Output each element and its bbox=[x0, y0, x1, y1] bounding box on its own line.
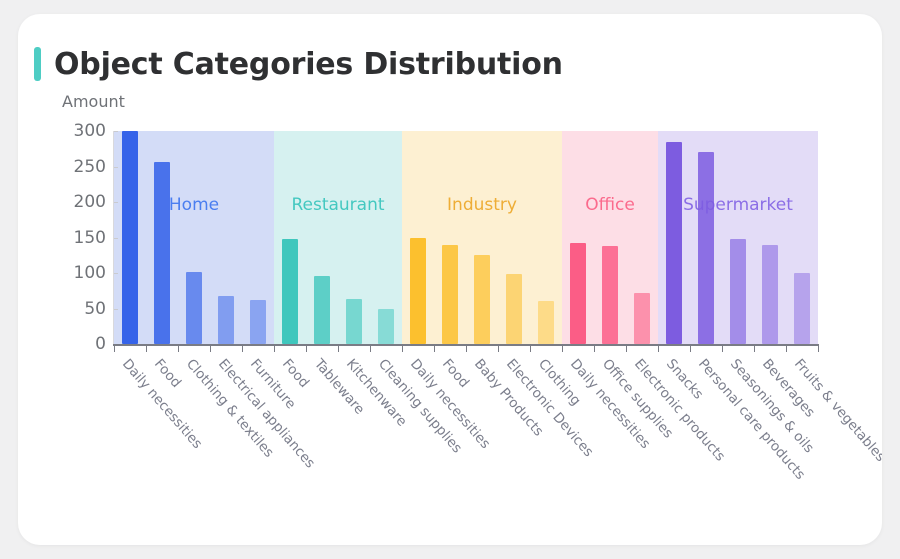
x-tick-mark bbox=[690, 346, 691, 352]
y-tick-mark bbox=[114, 131, 118, 132]
bar[interactable] bbox=[698, 152, 714, 344]
bar[interactable] bbox=[346, 299, 362, 344]
bar[interactable] bbox=[794, 273, 810, 344]
x-tick-mark bbox=[242, 346, 243, 352]
bar[interactable] bbox=[634, 293, 650, 344]
x-tick-mark bbox=[114, 346, 115, 352]
x-tick-mark bbox=[754, 346, 755, 352]
bar[interactable] bbox=[666, 142, 682, 344]
y-axis-title: Amount bbox=[62, 92, 125, 111]
x-tick-mark bbox=[146, 346, 147, 352]
bar[interactable] bbox=[282, 239, 298, 344]
bar[interactable] bbox=[474, 255, 490, 344]
x-tick-mark bbox=[370, 346, 371, 352]
group-label-home: Home bbox=[114, 195, 274, 215]
bar[interactable] bbox=[762, 245, 778, 344]
plot-area: HomeRestaurantIndustryOfficeSupermarket bbox=[114, 131, 818, 344]
x-tick-mark bbox=[786, 346, 787, 352]
bar[interactable] bbox=[154, 162, 170, 344]
group-label-industry: Industry bbox=[402, 195, 562, 215]
y-tick-label: 50 bbox=[60, 299, 106, 319]
y-tick-label: 300 bbox=[60, 121, 106, 141]
y-tick-label: 200 bbox=[60, 192, 106, 212]
bar[interactable] bbox=[538, 301, 554, 344]
chart-card: Object Categories Distribution Amount 05… bbox=[18, 14, 882, 545]
bar[interactable] bbox=[186, 272, 202, 344]
x-tick-mark bbox=[658, 346, 659, 352]
y-axis-tick-labels: 050100150200250300 bbox=[56, 131, 106, 344]
bar[interactable] bbox=[730, 239, 746, 344]
x-tick-mark bbox=[210, 346, 211, 352]
x-tick-mark bbox=[562, 346, 563, 352]
group-label-supermarket: Supermarket bbox=[658, 195, 818, 215]
x-tick-mark bbox=[274, 346, 275, 352]
x-tick-mark bbox=[434, 346, 435, 352]
y-tick-mark bbox=[114, 202, 118, 203]
y-tick-mark bbox=[114, 273, 118, 274]
x-tick-mark bbox=[594, 346, 595, 352]
x-tick-mark bbox=[306, 346, 307, 352]
bar[interactable] bbox=[378, 309, 394, 344]
group-label-restaurant: Restaurant bbox=[274, 195, 402, 215]
y-tick-label: 0 bbox=[60, 334, 106, 354]
bar[interactable] bbox=[602, 246, 618, 344]
x-tick-mark bbox=[626, 346, 627, 352]
x-tick-mark bbox=[818, 346, 819, 352]
x-tick-mark bbox=[178, 346, 179, 352]
bar[interactable] bbox=[218, 296, 234, 344]
x-tick-mark bbox=[338, 346, 339, 352]
x-tick-mark bbox=[466, 346, 467, 352]
bar[interactable] bbox=[314, 276, 330, 344]
y-tick-label: 100 bbox=[60, 263, 106, 283]
x-tick-mark bbox=[402, 346, 403, 352]
y-tick-label: 250 bbox=[60, 157, 106, 177]
bar[interactable] bbox=[410, 238, 426, 345]
bar[interactable] bbox=[442, 245, 458, 344]
bar[interactable] bbox=[122, 131, 138, 344]
bar[interactable] bbox=[506, 274, 522, 344]
x-tick-mark bbox=[722, 346, 723, 352]
y-tick-mark bbox=[114, 167, 118, 168]
bar-chart: Amount 050100150200250300 HomeRestaurant… bbox=[18, 14, 882, 545]
y-tick-mark bbox=[114, 238, 118, 239]
x-tick-mark bbox=[498, 346, 499, 352]
bar[interactable] bbox=[250, 300, 266, 344]
group-label-office: Office bbox=[562, 195, 658, 215]
y-tick-mark bbox=[114, 309, 118, 310]
bar[interactable] bbox=[570, 243, 586, 344]
x-tick-mark bbox=[530, 346, 531, 352]
y-tick-label: 150 bbox=[60, 228, 106, 248]
